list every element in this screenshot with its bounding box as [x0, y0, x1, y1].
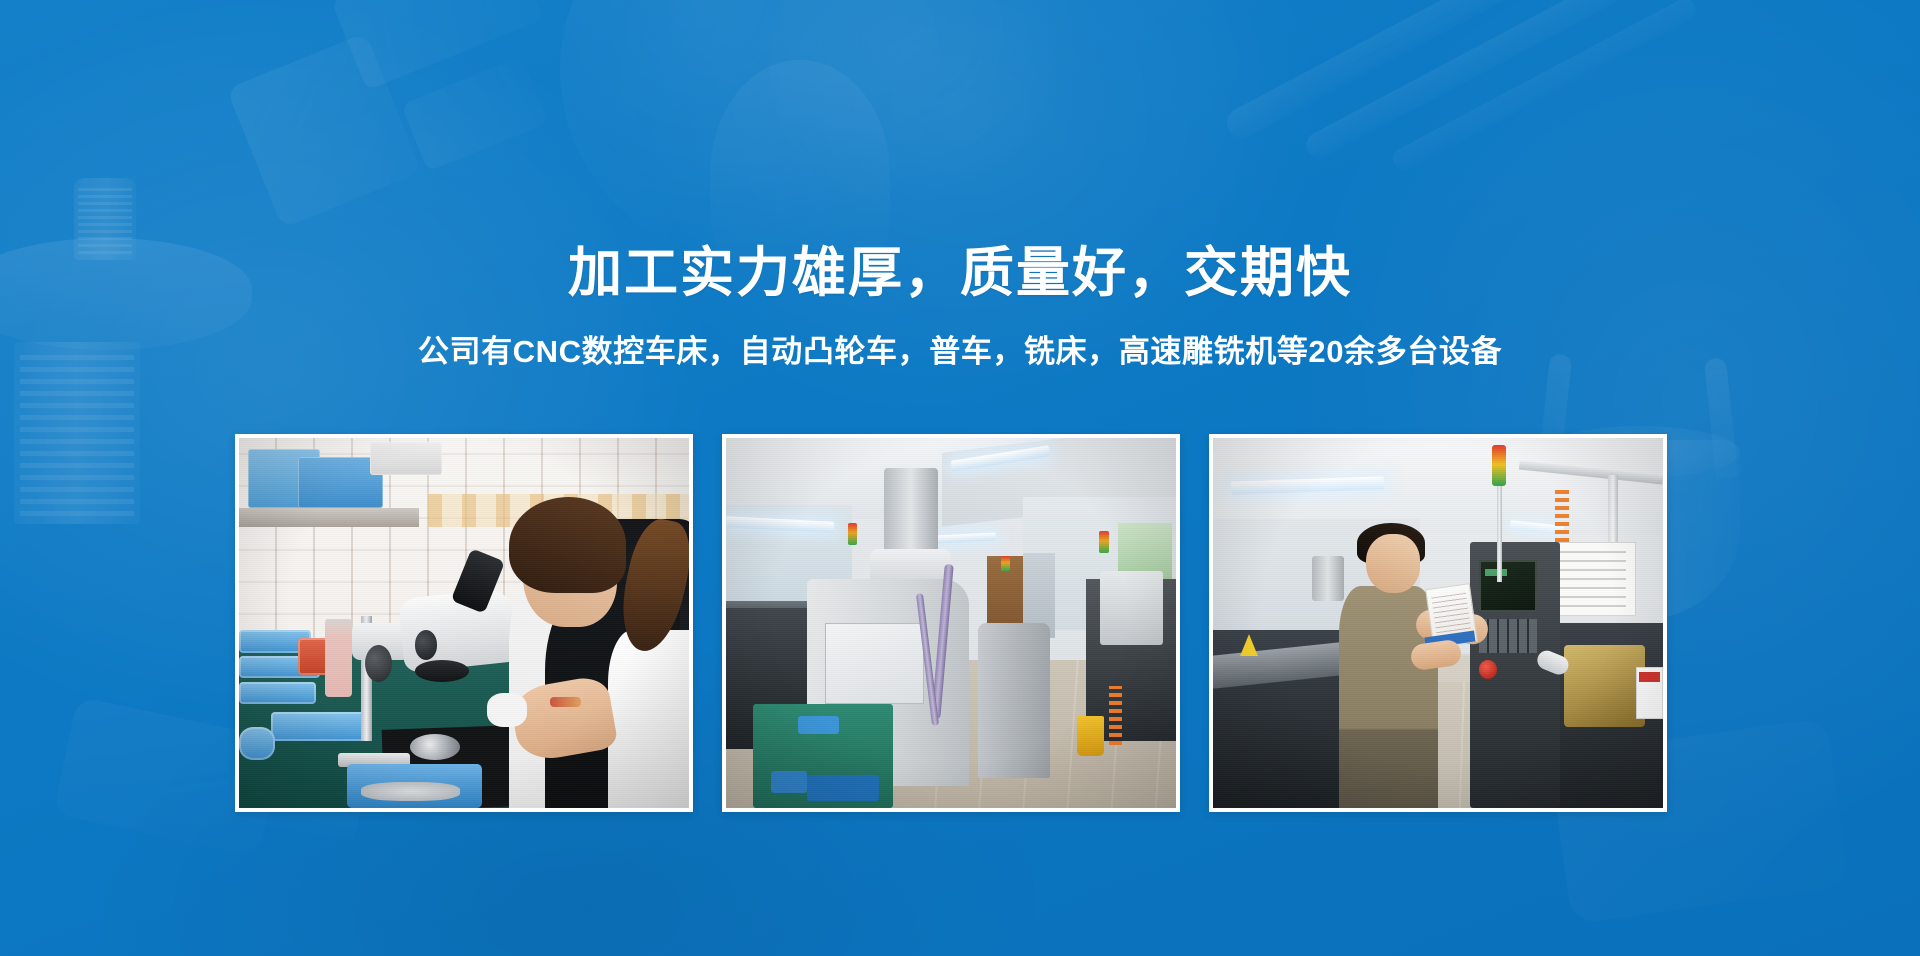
- photo-image-cnc-workshop: [726, 438, 1176, 808]
- photo-image-cnc-operator: [1213, 438, 1663, 808]
- photo-image-qc-microscope: [239, 438, 689, 808]
- photo-card-cnc-workshop[interactable]: [722, 434, 1180, 812]
- banner-text-block: 加工实力雄厚，质量好，交期快 公司有CNC数控车床，自动凸轮车，普车，铣床，高速…: [0, 242, 1920, 372]
- photo-card-qc-microscope[interactable]: [235, 434, 693, 812]
- banner-headline: 加工实力雄厚，质量好，交期快: [0, 242, 1920, 306]
- photo-card-cnc-operator[interactable]: [1209, 434, 1667, 812]
- promo-banner: 加工实力雄厚，质量好，交期快 公司有CNC数控车床，自动凸轮车，普车，铣床，高速…: [0, 0, 1920, 956]
- banner-subheadline: 公司有CNC数控车床，自动凸轮车，普车，铣床，高速雕铣机等20余多台设备: [0, 332, 1920, 372]
- banner-content: 加工实力雄厚，质量好，交期快 公司有CNC数控车床，自动凸轮车，普车，铣床，高速…: [0, 0, 1920, 956]
- banner-photo-gallery: [235, 434, 1667, 812]
